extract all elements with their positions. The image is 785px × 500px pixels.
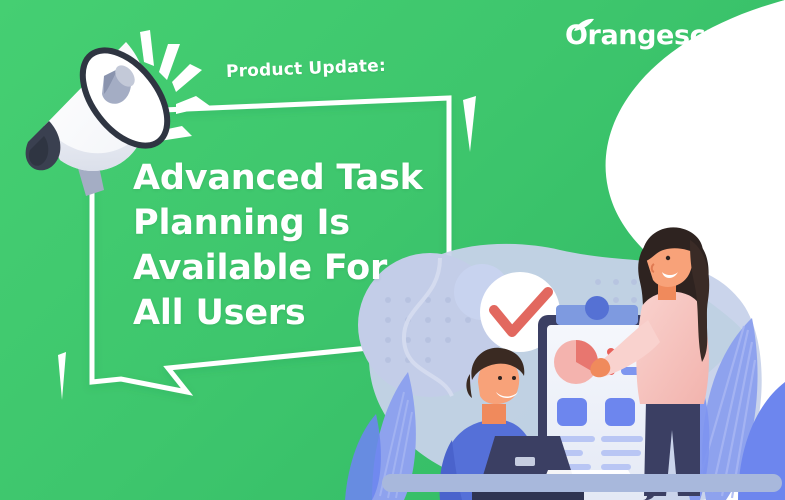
bubble-tail-sliver [463, 96, 476, 152]
illustration-base-bar [382, 474, 782, 492]
woman-eye [666, 256, 670, 260]
bubble-accent-sliver [58, 352, 66, 400]
logo-leaf-accent-icon [570, 18, 598, 36]
man-eye [498, 376, 502, 380]
product-update-banner: Orangescrum. Product Update: Advanced Ta… [0, 0, 785, 500]
headline: Advanced Task Planning Is Available For … [133, 156, 433, 336]
laptop-touchpad [515, 457, 535, 466]
headline-line-2: Planning Is [133, 201, 433, 246]
headline-line-4: All Users [133, 291, 433, 336]
pie-chart [554, 340, 598, 384]
clip-knob [585, 296, 609, 320]
headline-line-1: Advanced Task [133, 156, 433, 201]
headline-line-3: Available For [133, 246, 433, 291]
man-eye [512, 376, 516, 380]
